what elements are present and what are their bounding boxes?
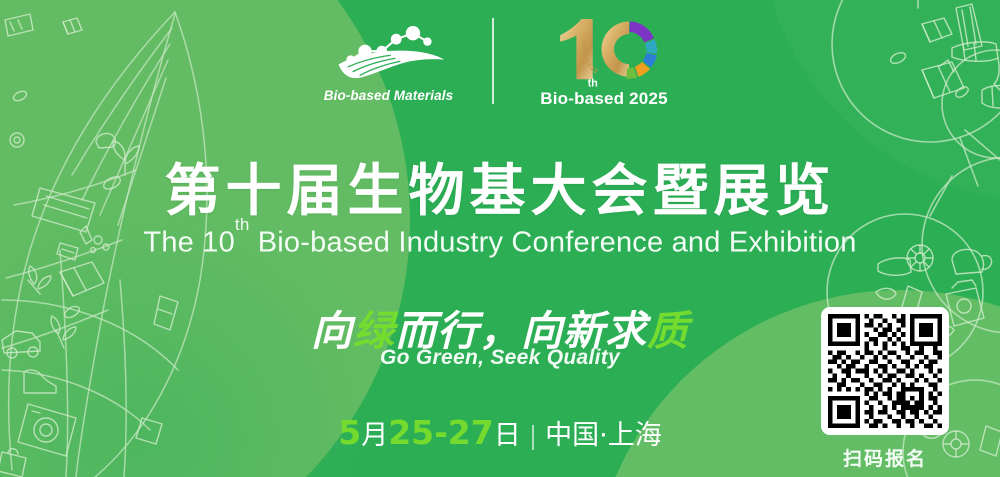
anniversary-ordinal: th bbox=[588, 78, 598, 88]
dateline-location: 中国·上海 bbox=[545, 420, 662, 451]
event-banner: Bio-based Materials bbox=[0, 0, 1000, 477]
title-en-post: Bio-based Industry Conference and Exhibi… bbox=[249, 227, 856, 259]
dateline-separator: | bbox=[521, 421, 545, 450]
registration-qr-block[interactable]: 扫码报名 bbox=[814, 307, 956, 471]
bio-based-materials-wordmark: Bio-based Materials bbox=[324, 88, 453, 103]
leaf-molecule-icon bbox=[329, 14, 449, 86]
title-en-pre: The 10 bbox=[143, 227, 235, 259]
qr-caption: 扫码报名 bbox=[843, 444, 927, 471]
dateline-month-char: 月 bbox=[361, 420, 388, 451]
logo-row: Bio-based Materials bbox=[0, 14, 1000, 109]
qr-code-icon[interactable] bbox=[821, 307, 949, 435]
tenth-anniversary-logo: 2015-2025 th Bio-based 2025 bbox=[522, 14, 687, 109]
title-en-ordinal: th bbox=[235, 215, 250, 234]
dateline-month-number: 5 bbox=[338, 413, 361, 452]
page-title-english: The 10th Bio-based Industry Conference a… bbox=[0, 226, 1000, 260]
page-title-chinese: 第十届生物基大会暨展览 bbox=[0, 146, 1000, 227]
dateline-days: 25-27 bbox=[388, 413, 494, 452]
tenth-anniversary-icon: 2015-2025 th bbox=[539, 14, 669, 88]
bio-based-2025-wordmark: Bio-based 2025 bbox=[540, 89, 668, 109]
dateline-day-char: 日 bbox=[494, 420, 521, 451]
bio-based-materials-logo: Bio-based Materials bbox=[314, 14, 464, 103]
logo-divider bbox=[492, 18, 494, 104]
